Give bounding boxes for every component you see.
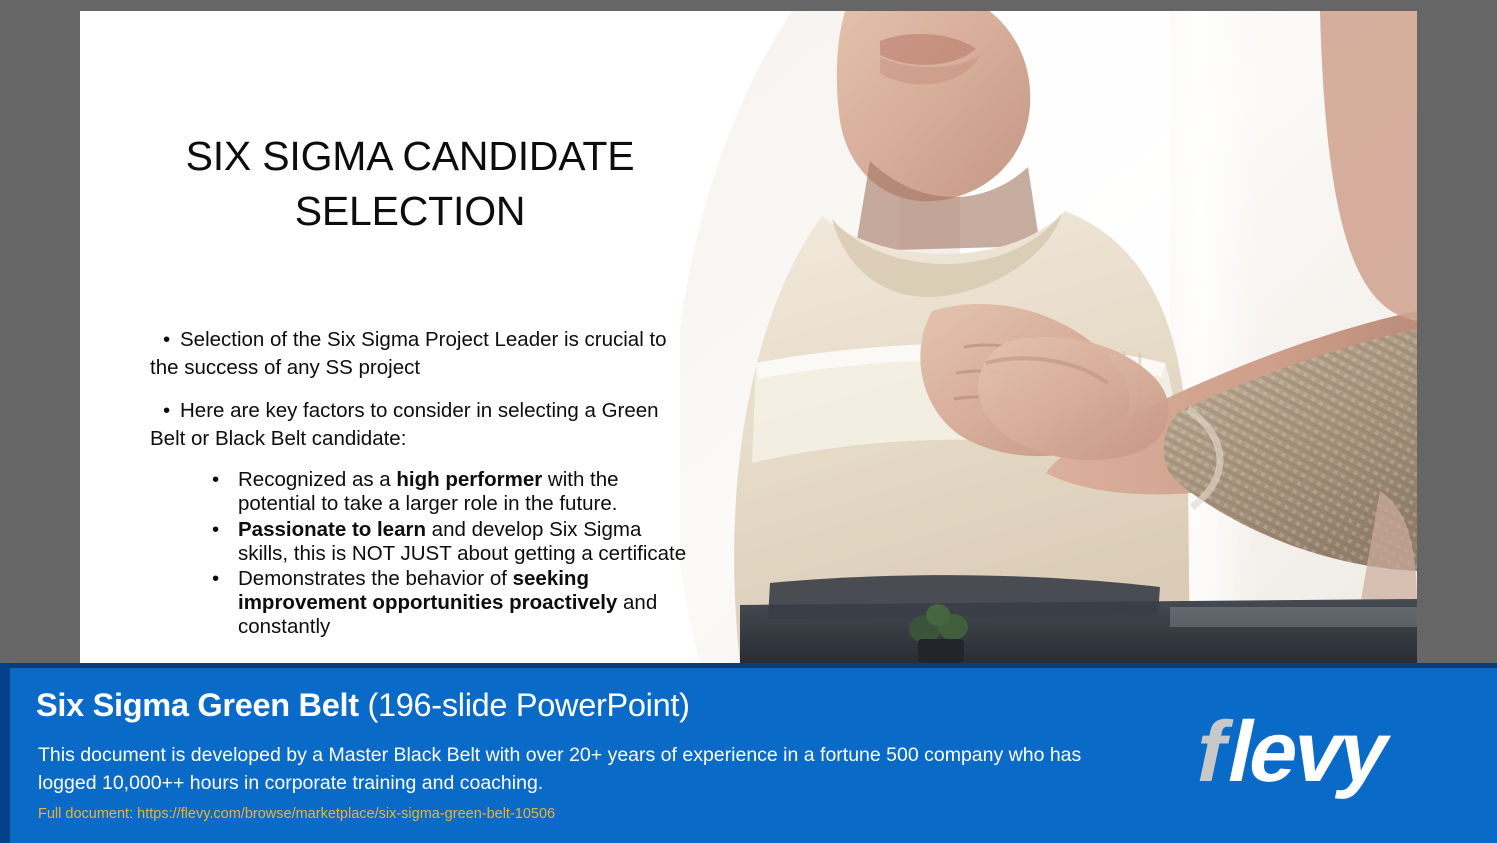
banner-description: This document is developed by a Master B… [38,742,1108,797]
list-item: • Demonstrates the behavior of seeking i… [150,567,696,639]
page-title: SIX SIGMA CANDIDATE SELECTION [160,129,660,240]
slide-body: •Selection of the Six Sigma Project Lead… [150,326,696,641]
bullet-level1-text: Selection of the Six Sigma Project Leade… [150,328,667,379]
screenshot-root: SIX SIGMA CANDIDATE SELECTION •Selection… [0,0,1497,843]
bullet-level1: •Selection of the Six Sigma Project Lead… [150,326,696,383]
banner-title: Six Sigma Green Belt (196-slide PowerPoi… [36,687,690,724]
flevy-logo[interactable]: f levy [1149,699,1479,804]
bullet-glyph-icon: • [150,397,180,425]
banner-title-bold: Six Sigma Green Belt [36,687,359,723]
banner-document-link[interactable]: Full document: https://flevy.com/browse/… [38,806,555,822]
list-item: • Recognized as a high performer with th… [150,468,696,516]
bullet-glyph-icon: • [212,567,219,591]
list-item-pre: Demonstrates the behavior of [238,567,513,590]
bullet-glyph-icon: • [212,468,219,492]
list-item-pre: Recognized as a [238,468,396,491]
svg-text:levy: levy [1220,704,1398,800]
slide-canvas: SIX SIGMA CANDIDATE SELECTION •Selection… [80,11,1417,663]
bullet-glyph-icon: • [212,518,219,542]
bullet-level2-list: • Recognized as a high performer with th… [150,468,696,639]
banner-top-border [0,663,1497,668]
banner-left-accent [0,663,10,843]
list-item: • Passionate to learn and develop Six Si… [150,518,696,566]
banner-title-light: (196-slide PowerPoint) [359,687,690,723]
list-item-emphasis: high performer [396,468,542,491]
bullet-level1: •Here are key factors to consider in sel… [150,397,696,454]
bullet-glyph-icon: • [150,326,180,354]
promo-banner: Six Sigma Green Belt (196-slide PowerPoi… [0,663,1497,843]
list-item-emphasis: Passionate to learn [238,518,426,541]
bullet-level1-text: Here are key factors to consider in sele… [150,399,659,450]
